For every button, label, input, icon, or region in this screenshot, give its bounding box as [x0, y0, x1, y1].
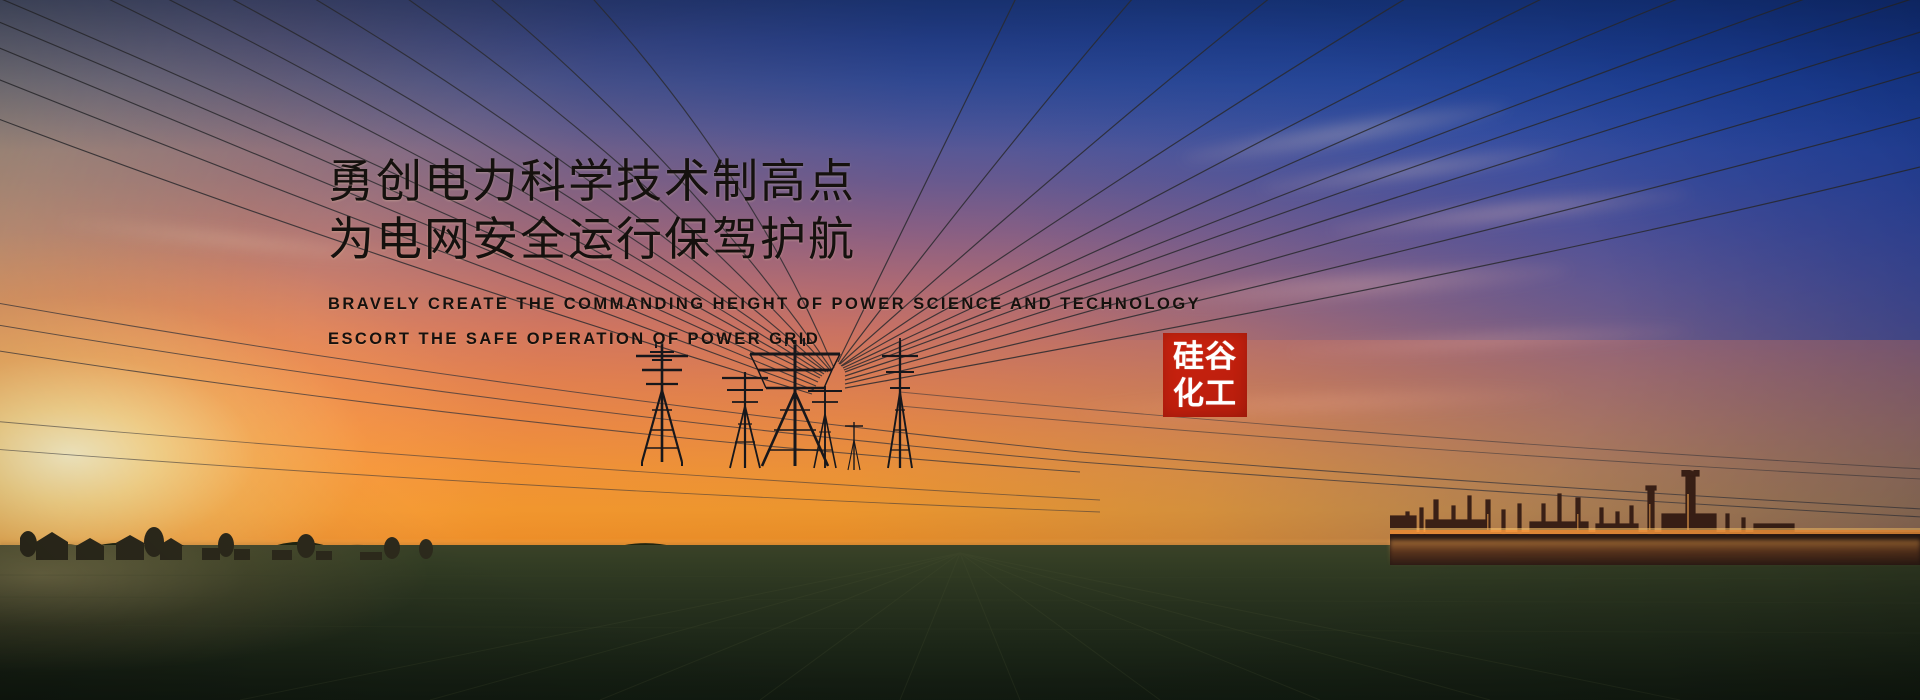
subhead-en-block: BRAVELY CREATE THE COMMANDING HEIGHT OF …: [328, 287, 1228, 357]
village-silhouette: [20, 512, 440, 560]
field-furrow-lines: [0, 545, 1920, 700]
refinery-light-glow: [1390, 540, 1920, 566]
headline-cn-line-1: 勇创电力科学技术制高点: [328, 152, 1228, 210]
seal-logo[interactable]: 硅谷 化工: [1163, 333, 1247, 417]
subhead-en-line-1: BRAVELY CREATE THE COMMANDING HEIGHT OF …: [328, 287, 1228, 322]
headline-cn-line-2: 为电网安全运行保驾护航: [328, 210, 1228, 268]
banner-copy-block: 勇创电力科学技术制高点 为电网安全运行保驾护航 BRAVELY CREATE T…: [328, 152, 1228, 357]
subhead-en-line-2: ESCORT THE SAFE OPERATION OF POWER GRID: [328, 322, 1228, 357]
hero-banner: 勇创电力科学技术制高点 为电网安全运行保驾护航 BRAVELY CREATE T…: [0, 0, 1920, 700]
seal-logo-row-2: 化工: [1173, 376, 1237, 412]
seal-logo-row-1: 硅谷: [1173, 339, 1237, 375]
seal-logo-inner: 硅谷 化工: [1163, 333, 1247, 417]
